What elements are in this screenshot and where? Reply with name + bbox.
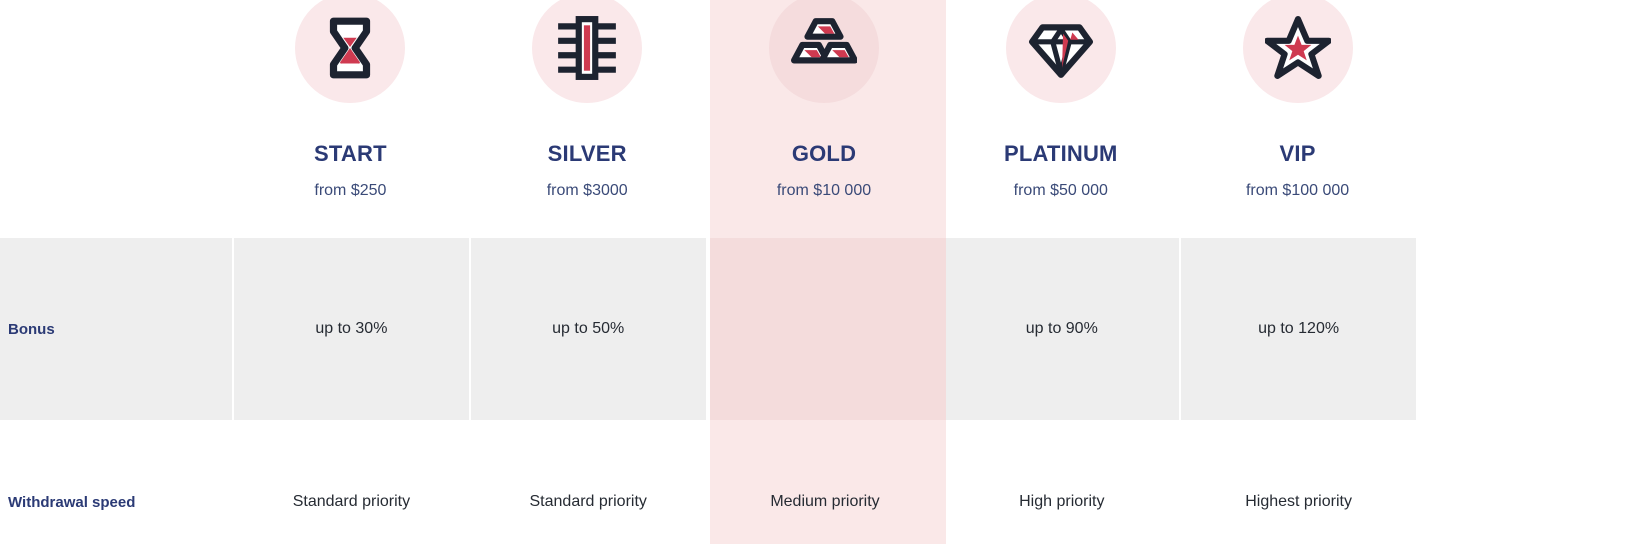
cell-value: up to 30% <box>315 320 387 338</box>
cell-value: High priority <box>1019 493 1104 511</box>
tier-header: START from $250 SILVER from $3000 <box>0 0 1416 238</box>
tier-price: from $10 000 <box>706 182 943 200</box>
table-cell-withdrawal-start: Standard priority <box>234 420 469 544</box>
featured-column-highlight-row <box>710 238 946 420</box>
tier-card-platinum[interactable]: PLATINUM from $50 000 <box>942 0 1179 238</box>
tier-card-start[interactable]: START from $250 <box>232 0 469 238</box>
tier-price: from $250 <box>232 182 469 200</box>
row-label-text: Bonus <box>8 321 55 338</box>
table-row: Bonus up to 30% up to 50% up to 70% up t… <box>0 238 1416 420</box>
silver-bars-icon <box>532 0 642 103</box>
row-label-text: Withdrawal speed <box>8 494 135 511</box>
table-cell-withdrawal-silver: Standard priority <box>471 420 706 544</box>
tier-name: GOLD <box>706 141 943 167</box>
table-cell-withdrawal-vip: Highest priority <box>1181 420 1416 544</box>
account-tiers-comparison-table: START from $250 SILVER from $3000 <box>0 0 1631 544</box>
table-cell-bonus-vip: up to 120% <box>1181 238 1416 420</box>
table-cell-withdrawal-gold: Medium priority <box>708 420 943 544</box>
tier-card-vip[interactable]: VIP from $100 000 <box>1179 0 1416 238</box>
tier-name: VIP <box>1179 141 1416 167</box>
row-label: Bonus <box>0 238 232 420</box>
cell-value: Standard priority <box>293 493 410 511</box>
cell-value: up to 90% <box>1026 320 1098 338</box>
star-icon <box>1243 0 1353 103</box>
hourglass-icon <box>295 0 405 103</box>
tier-name: START <box>232 141 469 167</box>
cell-value: Medium priority <box>770 493 879 511</box>
diamond-icon <box>1006 0 1116 103</box>
gold-bars-icon <box>769 0 879 103</box>
row-label: Withdrawal speed <box>0 420 232 544</box>
cell-value: up to 50% <box>552 320 624 338</box>
table-cell-bonus-platinum: up to 90% <box>944 238 1179 420</box>
cell-value: up to 120% <box>1258 320 1339 338</box>
tier-name: PLATINUM <box>942 141 1179 167</box>
table-cell-withdrawal-platinum: High priority <box>944 420 1179 544</box>
cell-value: Standard priority <box>530 493 647 511</box>
table-cell-bonus-silver: up to 50% <box>471 238 706 420</box>
tier-price: from $3000 <box>469 182 706 200</box>
tier-card-silver[interactable]: SILVER from $3000 <box>469 0 706 238</box>
table-row: Withdrawal speed Standard priority Stand… <box>0 420 1416 544</box>
table-cell-bonus-start: up to 30% <box>234 238 469 420</box>
tier-price: from $50 000 <box>942 182 1179 200</box>
tier-name: SILVER <box>469 141 706 167</box>
tier-price: from $100 000 <box>1179 182 1416 200</box>
cell-value: Highest priority <box>1245 493 1352 511</box>
tier-card-gold[interactable]: GOLD from $10 000 <box>706 0 943 238</box>
tier-header-spacer <box>0 0 232 238</box>
